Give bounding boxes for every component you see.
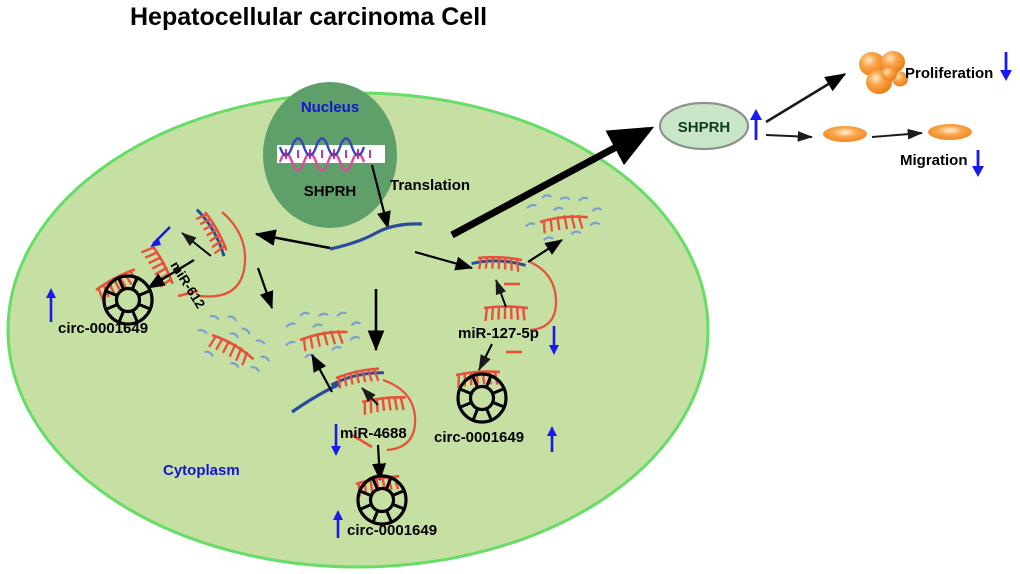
proliferation-label: Proliferation <box>905 65 993 82</box>
shprh-trend-arrow <box>750 109 762 140</box>
arrow-to-proliferation <box>766 74 845 122</box>
cytoplasm-label: Cytoplasm <box>163 462 240 479</box>
translation-label: Translation <box>390 177 470 194</box>
shprh-protein-label: SHPRH <box>678 119 731 136</box>
migrating-cell-icon-2 <box>928 124 972 140</box>
pathway-diagram: Hepatocellular carcinoma Cell Cytoplasm … <box>0 0 1020 574</box>
figure-canvas: Hepatocellular carcinoma Cell Cytoplasm … <box>0 0 1020 574</box>
circrna-label-right: circ-0001649 <box>434 429 524 446</box>
migration-trend-arrow <box>972 150 984 177</box>
circrna-label-left: circ-0001649 <box>58 320 148 337</box>
nucleus-gene-label: SHPRH <box>304 183 357 200</box>
cell-cluster-icon <box>859 51 908 94</box>
mirna-label-bottom: miR-4688 <box>340 425 407 442</box>
proliferation-trend-arrow <box>1000 52 1012 81</box>
migration-label: Migration <box>900 152 968 169</box>
figure-title: Hepatocellular carcinoma Cell <box>130 3 487 31</box>
arrow-to-migration <box>766 135 812 137</box>
migration-direction-arrow <box>872 133 922 137</box>
mirna-label-right: miR-127-5p <box>458 325 539 342</box>
migrating-cell-icon-1 <box>823 126 867 142</box>
circrna-label-bottom: circ-0001649 <box>347 522 437 539</box>
nucleus-label: Nucleus <box>301 99 359 116</box>
